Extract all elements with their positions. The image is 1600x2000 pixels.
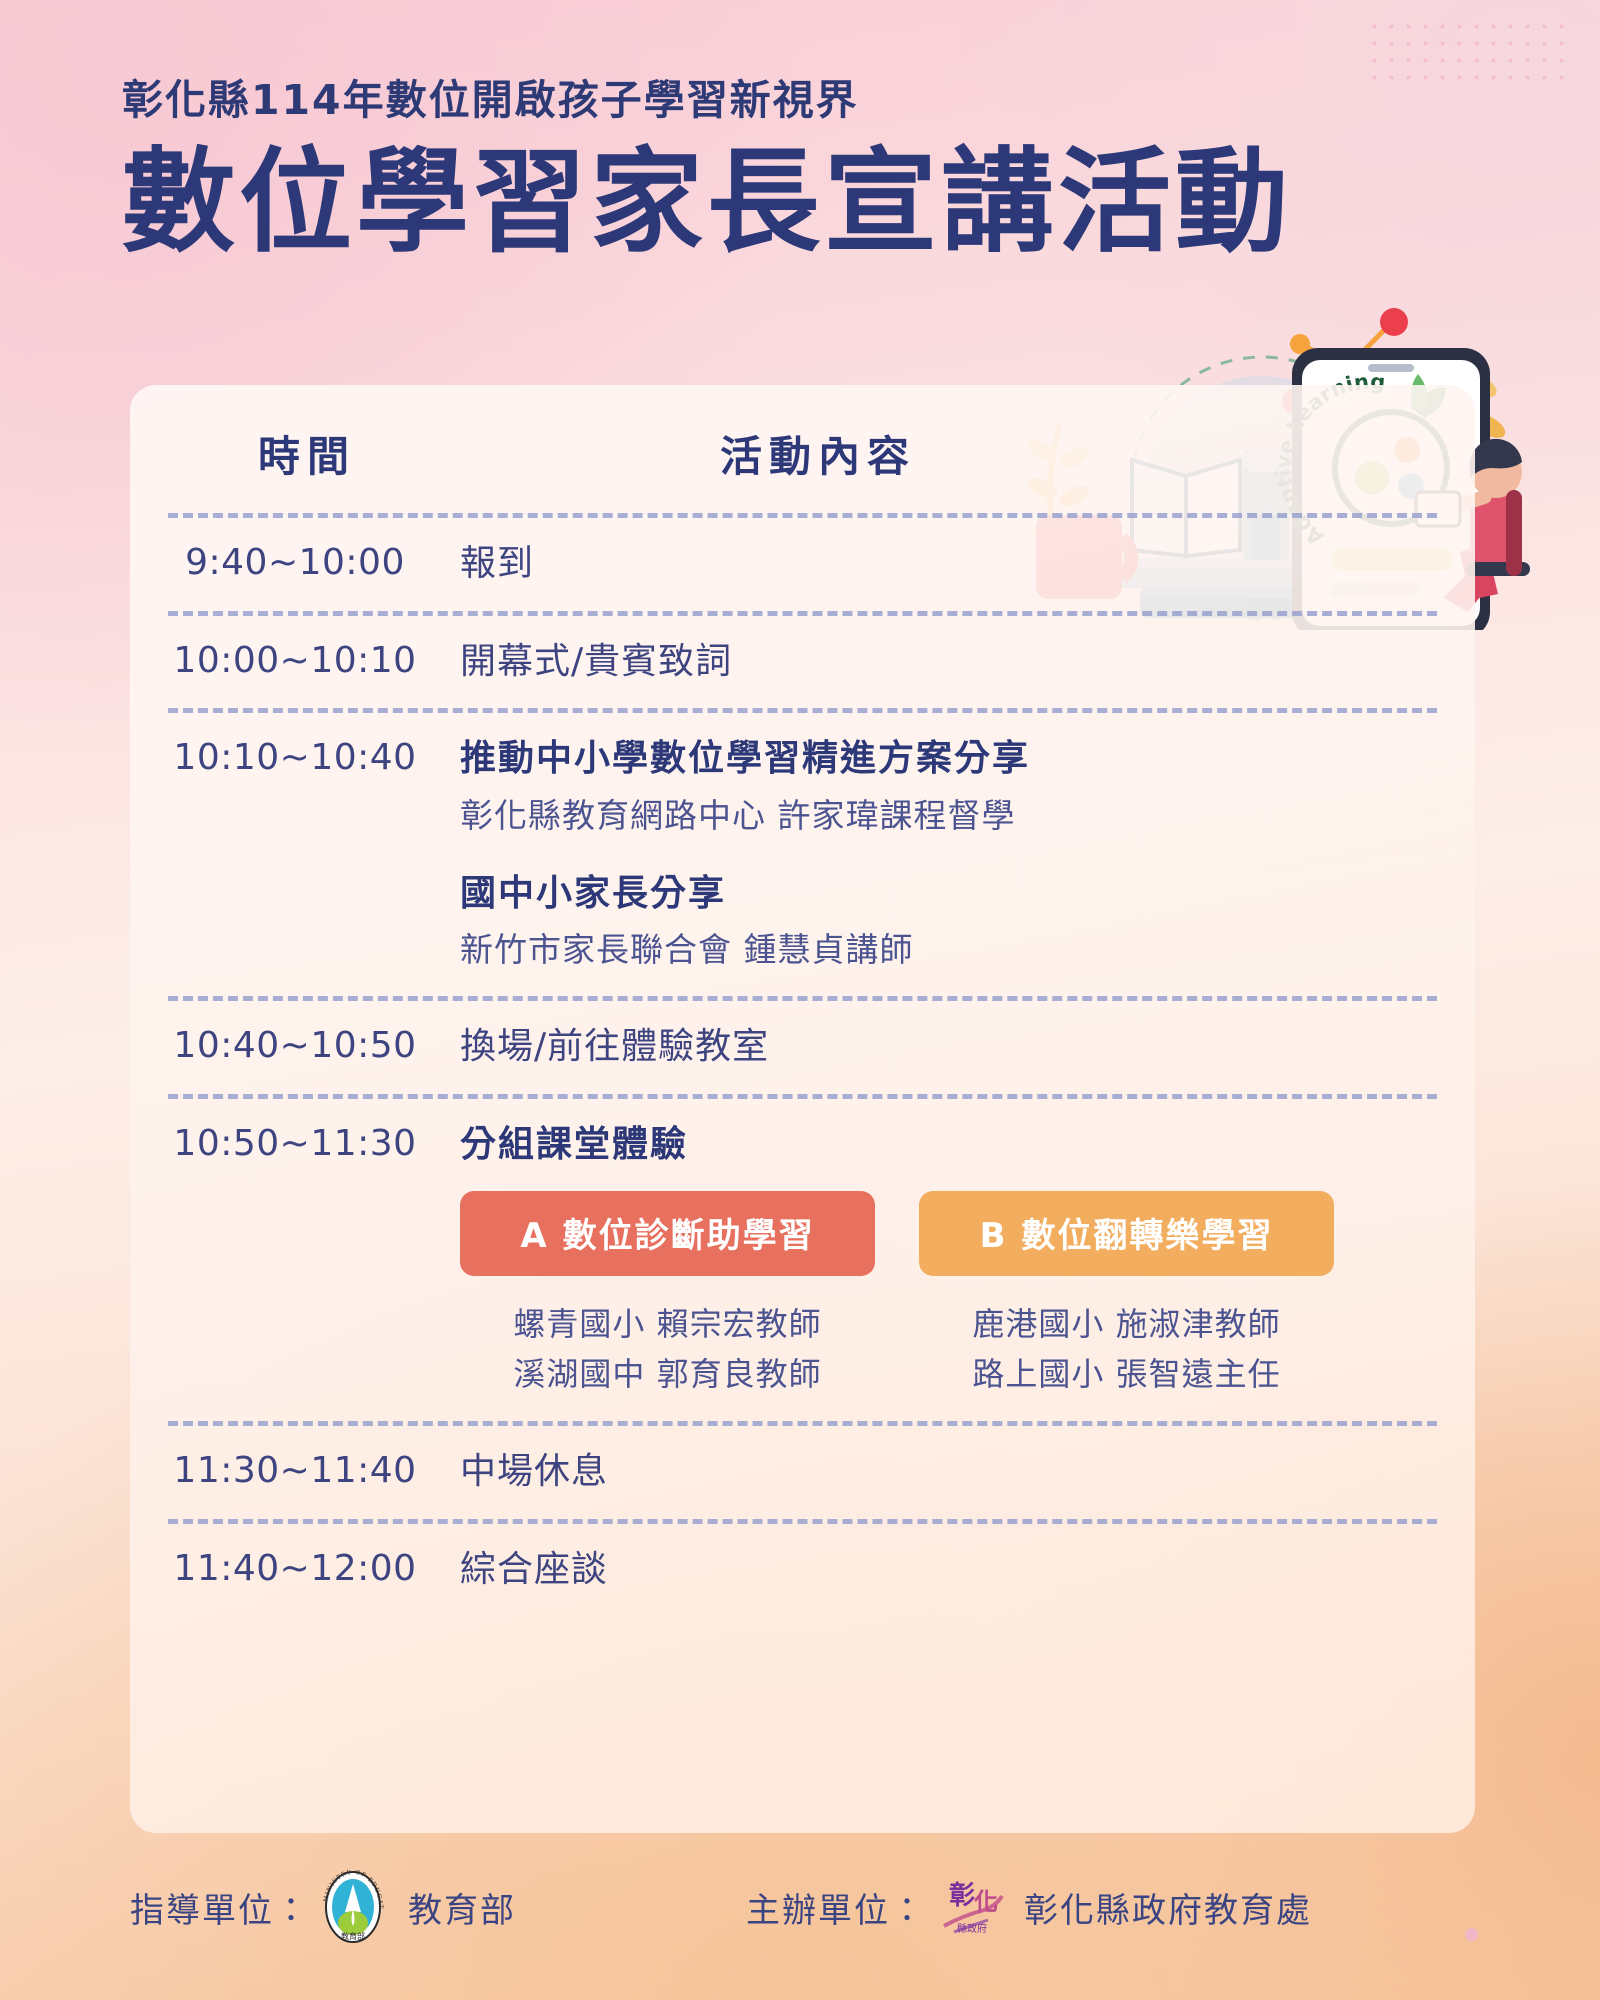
row-content: 中場休息 [460, 1448, 1475, 1497]
poster-root: 彰化縣114年數位開啟孩子學習新視界 數位學習家長宣講活動 [0, 0, 1600, 2000]
row-content: 報到 [460, 540, 1475, 589]
ministry-of-education-logo: MINISTRY OF EDUCATION 教育部 [316, 1870, 390, 1944]
group-a: A 數位診斷助學習 螺青國小 賴宗宏教師 溪湖國中 郭育良教師 [460, 1191, 875, 1399]
table-row: 10:10~10:40 推動中小學數位學習精進方案分享 彰化縣教育網路中心 許家… [130, 713, 1475, 996]
poster-footer: 指導單位： MINISTRY OF EDUCATION 教育部 教育部 [130, 1862, 1475, 1952]
row-content: 換場/前往體驗教室 [460, 1023, 1475, 1072]
moe-logo-sub-text: 教育部 [341, 1931, 365, 1941]
group-a-badge: A 數位診斷助學習 [460, 1191, 875, 1276]
host-organization: 主辦單位： 彰 化 縣政府 彰化縣政府教育處 [746, 1870, 1312, 1944]
group-member: 溪湖國中 郭育良教師 [460, 1350, 875, 1400]
host-name: 彰化縣政府教育處 [1024, 1883, 1312, 1932]
dot-grid-decoration [1366, 18, 1576, 84]
group-b: B 數位翻轉樂學習 鹿港國小 施淑津教師 路上國小 張智遠主任 [919, 1191, 1334, 1399]
column-header-content: 活動內容 [720, 423, 916, 484]
group-member: 鹿港國小 施淑津教師 [919, 1300, 1334, 1350]
row-time: 11:40~12:00 [130, 1546, 460, 1589]
table-row: 9:40~10:00 報到 [130, 518, 1475, 611]
changhua-logo-char2: 化 [974, 1888, 998, 1916]
row-title: 綜合座談 [460, 1546, 1435, 1595]
row-time: 11:30~11:40 [130, 1448, 460, 1491]
group-member: 路上國小 張智遠主任 [919, 1350, 1334, 1400]
column-header-time: 時間 [258, 423, 356, 484]
table-row: 11:40~12:00 綜合座談 [130, 1524, 1475, 1617]
row-content: 分組課堂體驗 A 數位診斷助學習 螺青國小 賴宗宏教師 溪湖國中 郭育良教師 B… [460, 1121, 1475, 1400]
row-divider [168, 1421, 1437, 1426]
group-member: 螺青國小 賴宗宏教師 [460, 1300, 875, 1350]
changhua-logo-char1: 彰 [949, 1880, 975, 1911]
session-title: 分組課堂體驗 [460, 1121, 1435, 1170]
row-content: 綜合座談 [460, 1546, 1475, 1595]
session-speaker: 新竹市家長聯合會 鍾慧貞講師 [460, 926, 1435, 974]
row-divider [168, 1094, 1437, 1099]
group-session-list: A 數位診斷助學習 螺青國小 賴宗宏教師 溪湖國中 郭育良教師 B 數位翻轉樂學… [460, 1191, 1435, 1399]
poster-header: 彰化縣114年數位開啟孩子學習新視界 數位學習家長宣講活動 [122, 78, 1502, 263]
row-title: 換場/前往體驗教室 [460, 1023, 1435, 1072]
advisor-label: 指導單位： [130, 1883, 310, 1932]
table-row: 11:30~11:40 中場休息 [130, 1426, 1475, 1519]
row-title: 開幕式/貴賓致詞 [460, 638, 1435, 687]
group-b-badge: B 數位翻轉樂學習 [919, 1191, 1334, 1276]
row-time: 10:40~10:50 [130, 1023, 460, 1066]
schedule-card: 時間 活動內容 9:40~10:00 報到 10:00~10:10 開幕式/貴賓… [130, 385, 1475, 1833]
advisor-organization: 指導單位： MINISTRY OF EDUCATION 教育部 教育部 [130, 1870, 516, 1944]
session-speaker: 彰化縣教育網路中心 許家瑋課程督學 [460, 792, 1435, 840]
advisor-name: 教育部 [408, 1883, 516, 1932]
row-time: 9:40~10:00 [130, 540, 460, 583]
table-row: 10:40~10:50 換場/前往體驗教室 [130, 1001, 1475, 1094]
row-content: 開幕式/貴賓致詞 [460, 638, 1475, 687]
group-a-members: 螺青國小 賴宗宏教師 溪湖國中 郭育良教師 [460, 1300, 875, 1399]
row-divider [168, 513, 1437, 518]
schedule-rows: 9:40~10:00 報到 10:00~10:10 開幕式/貴賓致詞 10:10… [130, 513, 1475, 1617]
row-content: 推動中小學數位學習精進方案分享 彰化縣教育網路中心 許家瑋課程督學 國中小家長分… [460, 735, 1475, 974]
row-time: 10:10~10:40 [130, 735, 460, 778]
row-divider [168, 611, 1437, 616]
poster-subtitle: 彰化縣114年數位開啟孩子學習新視界 [122, 78, 1502, 123]
table-row: 10:50~11:30 分組課堂體驗 A 數位診斷助學習 螺青國小 賴宗宏教師 … [130, 1099, 1475, 1422]
table-row: 10:00~10:10 開幕式/貴賓致詞 [130, 616, 1475, 709]
block-gap [460, 840, 1435, 870]
row-title: 報到 [460, 540, 1435, 589]
changhua-logo-sub: 縣政府 [957, 1922, 987, 1935]
page-title: 數位學習家長宣講活動 [122, 141, 1502, 263]
row-time: 10:50~11:30 [130, 1121, 460, 1164]
group-b-members: 鹿港國小 施淑津教師 路上國小 張智遠主任 [919, 1300, 1334, 1399]
row-time: 10:00~10:10 [130, 638, 460, 681]
row-divider [168, 1519, 1437, 1524]
changhua-county-government-logo: 彰 化 縣政府 [932, 1870, 1006, 1944]
schedule-table-header: 時間 活動內容 [130, 423, 1475, 493]
session-title: 推動中小學數位學習精進方案分享 [460, 735, 1435, 784]
session-title: 國中小家長分享 [460, 870, 1435, 919]
host-label: 主辦單位： [746, 1883, 926, 1932]
row-divider [168, 996, 1437, 1001]
row-divider [168, 708, 1437, 713]
row-title: 中場休息 [460, 1448, 1435, 1497]
